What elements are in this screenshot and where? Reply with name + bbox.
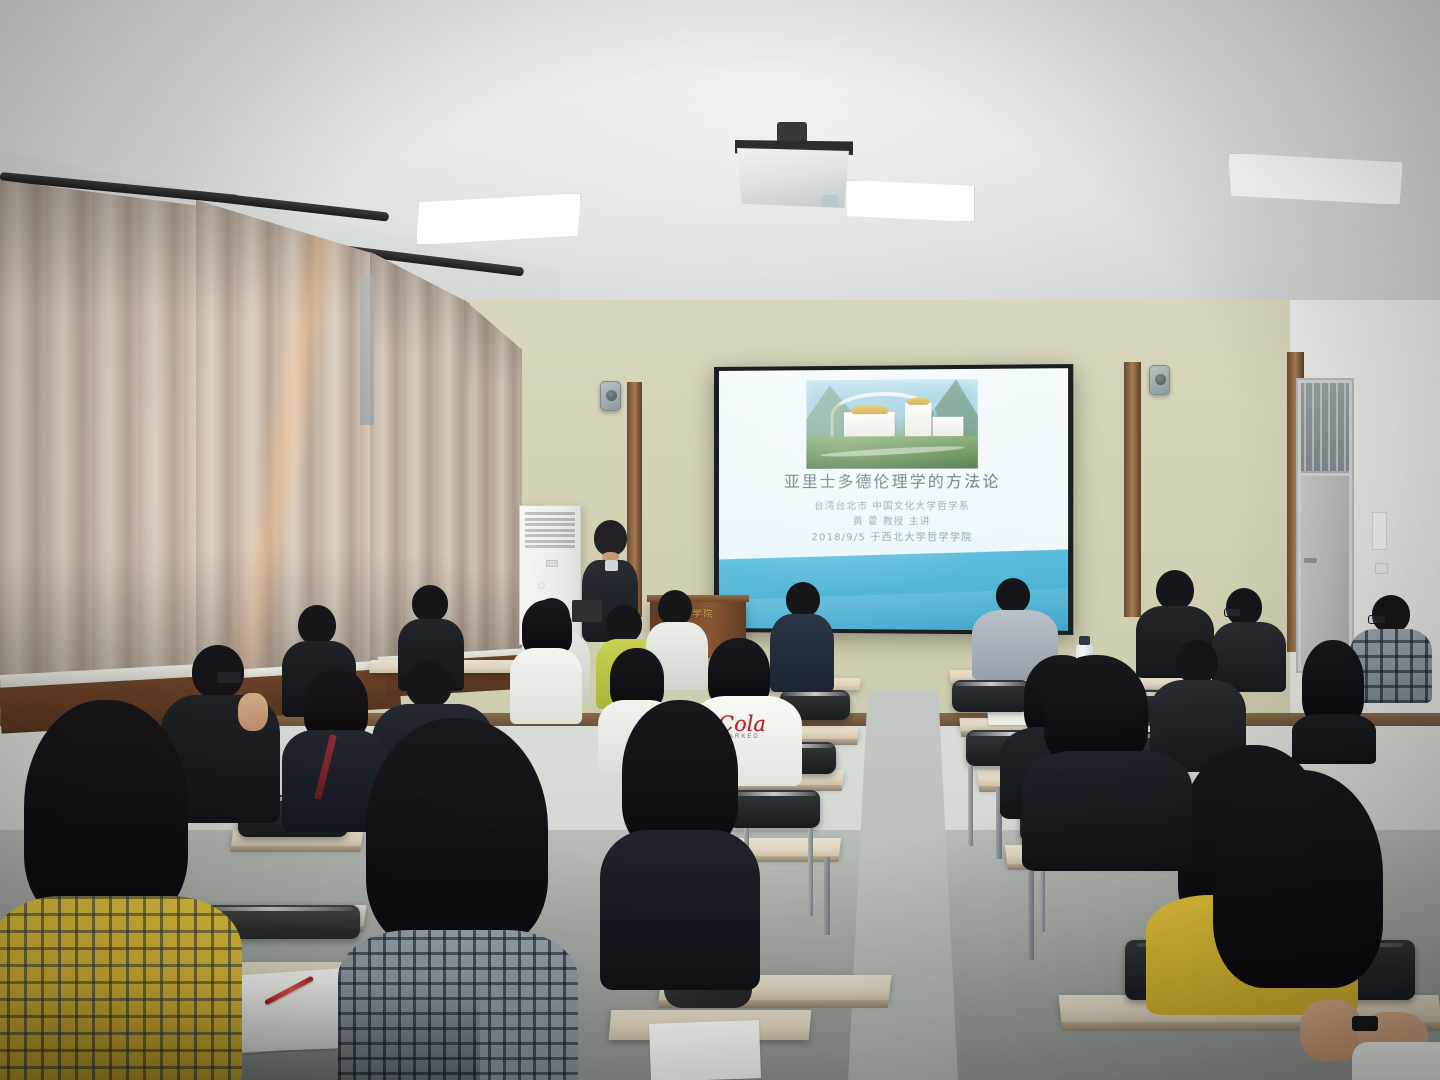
slide-campus-photo bbox=[807, 379, 978, 468]
slide-title: 亚里士多德伦理学的方法论 bbox=[719, 469, 1068, 492]
head bbox=[658, 590, 692, 626]
head bbox=[1156, 570, 1194, 610]
lecturer-shirt-collar bbox=[605, 560, 618, 571]
shirt-sleeve bbox=[1352, 1042, 1440, 1080]
wall-speaker-right-icon bbox=[1149, 365, 1170, 395]
head bbox=[298, 605, 336, 645]
torso bbox=[510, 648, 582, 724]
audience-member bbox=[1292, 640, 1376, 750]
lecturer-head bbox=[594, 520, 627, 556]
head bbox=[1226, 588, 1262, 626]
hair bbox=[1044, 655, 1148, 765]
hair bbox=[622, 700, 738, 850]
eyeglasses-icon bbox=[1224, 608, 1241, 617]
door-transom-window bbox=[1301, 383, 1349, 473]
mobile-phone[interactable] bbox=[1352, 1016, 1378, 1031]
eyeglasses-icon bbox=[1368, 615, 1386, 624]
hair bbox=[24, 700, 188, 922]
head bbox=[1372, 595, 1410, 633]
photo-building-right bbox=[933, 417, 964, 438]
door-security-bars bbox=[1301, 383, 1349, 471]
torso bbox=[600, 830, 760, 990]
photo-building-tower bbox=[905, 403, 931, 440]
slide-subtitle-affiliation: 台湾台北市 中国文化大学哲学系 bbox=[719, 498, 1068, 512]
lecture-hall-photo: 亚里士多德伦理学的方法论 台湾台北市 中国文化大学哲学系 黄 藿 教授 主讲 2… bbox=[0, 0, 1440, 1080]
curtain-shading bbox=[0, 180, 200, 700]
photo-roof-tower bbox=[907, 397, 929, 404]
audience-member-foreground bbox=[1022, 655, 1192, 865]
head bbox=[786, 582, 820, 617]
ac-indicator-icon bbox=[538, 582, 545, 589]
head bbox=[412, 585, 448, 622]
foreground-shadow bbox=[0, 980, 480, 1080]
eyeglasses-icon bbox=[216, 671, 242, 684]
ac-brand-badge bbox=[546, 560, 558, 567]
head bbox=[996, 578, 1030, 613]
handout-paper bbox=[649, 1020, 761, 1080]
curtain-panel-near bbox=[0, 180, 200, 700]
wall-outlet-icon bbox=[1375, 563, 1388, 574]
slide-subtitle-date-venue: 2018/9/5 于西北大学哲学学院 bbox=[719, 528, 1068, 544]
audience-member bbox=[510, 600, 582, 720]
photo-building-main bbox=[844, 412, 895, 439]
hair bbox=[1213, 770, 1383, 988]
window-gap bbox=[360, 275, 374, 425]
head bbox=[406, 660, 452, 708]
head bbox=[606, 605, 642, 643]
audience-member-foreground bbox=[1195, 770, 1395, 1000]
audience-member-foreground bbox=[600, 700, 760, 980]
hair bbox=[366, 718, 548, 948]
projector-lens-icon bbox=[822, 195, 838, 207]
desk-leg bbox=[824, 857, 830, 935]
hand bbox=[238, 693, 268, 731]
bottle-cap bbox=[1079, 636, 1090, 645]
door-handle-icon[interactable] bbox=[1304, 558, 1317, 563]
wall-speaker-left-icon bbox=[600, 381, 621, 411]
chair-leg bbox=[808, 828, 813, 916]
classroom-door[interactable] bbox=[1296, 378, 1354, 673]
photo-roof-main bbox=[851, 405, 889, 415]
ac-vent-grille bbox=[525, 512, 575, 546]
desk-leg bbox=[1028, 865, 1034, 960]
light-switch-plate[interactable] bbox=[1372, 512, 1387, 550]
slide-subtitle-presenter: 黄 藿 教授 主讲 bbox=[719, 513, 1068, 528]
chair-leg bbox=[968, 766, 973, 846]
ceiling-light-panel bbox=[845, 180, 975, 222]
torso bbox=[1022, 751, 1192, 871]
